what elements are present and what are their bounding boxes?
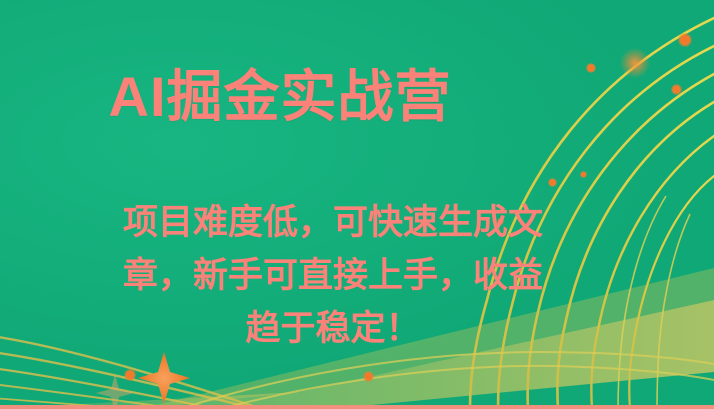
poster-subtitle: 项目难度低，可快速生成文 章，新手可直接上手，收益 趋于稳定！ [70,196,596,356]
text-content: AI掘金实战营 项目难度低，可快速生成文 章，新手可直接上手，收益 趋于稳定！ [0,0,714,409]
promo-poster: AI掘金实战营 项目难度低，可快速生成文 章，新手可直接上手，收益 趋于稳定！ [0,0,714,409]
subtitle-line-1: 项目难度低，可快速生成文 [70,196,596,249]
subtitle-line-3: 趋于稳定！ [70,302,596,355]
subtitle-line-2: 章，新手可直接上手，收益 [70,249,596,302]
poster-title: AI掘金实战营 [0,68,560,127]
